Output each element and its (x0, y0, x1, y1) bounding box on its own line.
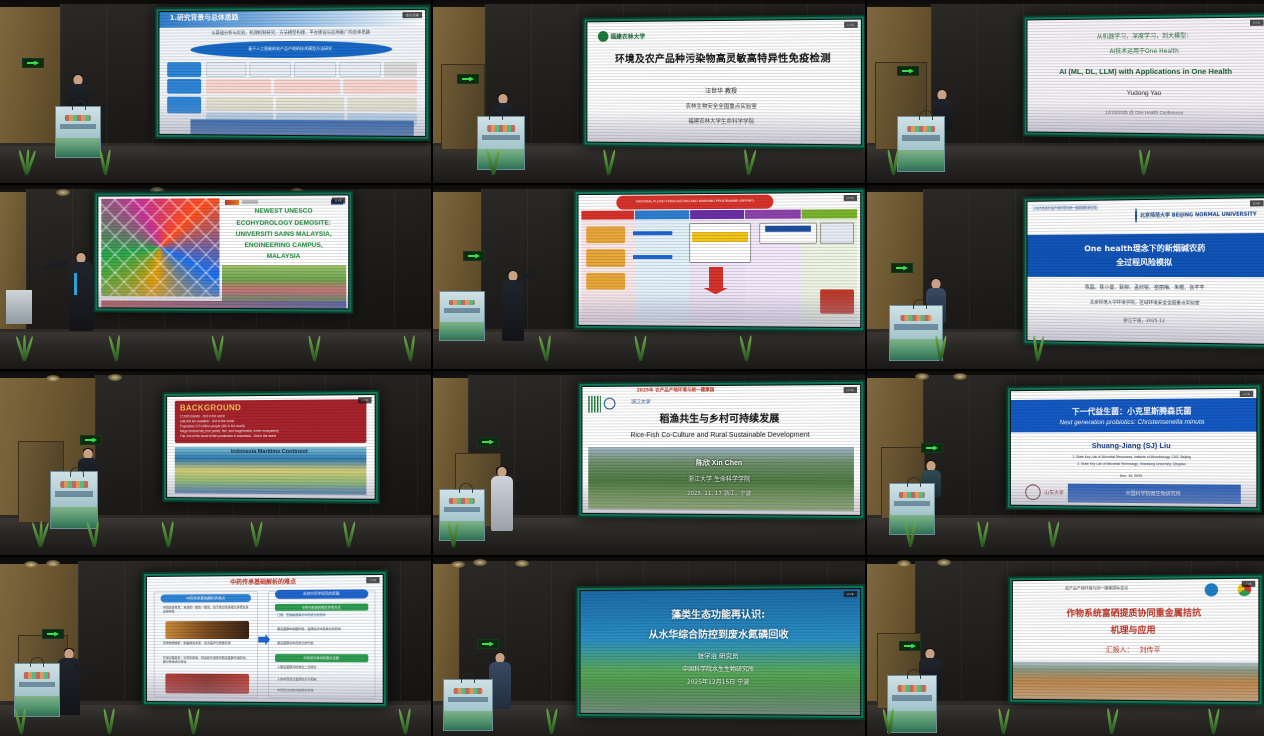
microphone-icon (70, 467, 84, 477)
exit-sign-icon (463, 251, 485, 261)
photo-cell-r3c3[interactable]: 下一代益生菌：小克里斯腾森氏菌 Next generation probioti… (867, 371, 1264, 555)
slide-title-ai-onehealth: 从机器学习，深度学习，到大模型： AI技术运用于One Health AI (M… (1028, 17, 1264, 134)
photo-cell-r3c1[interactable]: BACKGROUND 17,000 islands - 2nd in the w… (0, 371, 431, 555)
slide-affiliation-2: 福建农林大学生命科学学院 (587, 118, 860, 127)
slide-title-band: 下一代益生菌：小克里斯腾森氏菌 Next generation probioti… (1011, 398, 1257, 432)
broadcast-watermark: LIVE (843, 387, 857, 393)
slide-unesco-demosite: NEWEST UNESCO ECOHYDROLOGY DEMOSITE: UNI… (98, 195, 348, 308)
slide-right-group-1-item-2: 肠道菌群中的酶作用，选择性对中药成分的影响 (277, 628, 366, 632)
slide-header: BACKGROUND (180, 402, 361, 412)
slide-left-header: 中药传承基础解析的难点 (161, 594, 252, 603)
potted-plant (1197, 720, 1227, 736)
potted-plant (1023, 349, 1049, 369)
potted-plant (623, 333, 655, 369)
photo-cell-r3c2[interactable]: 2025年 农产品产地环境与统一健康国 浙江大学 稻渔共生与乡村可持续发展 Ri… (433, 371, 865, 555)
photo-cell-r4c2[interactable]: 藻类生态功能再认识: 从水华综合防控到废水氮磷回收 张学治 研究员 中国科学院水… (433, 557, 865, 736)
slide-left-bullet-3: 代谢过程复杂：中药的吸收、转运和代谢受胃肠道菌群代谢影响，部分有效成分转化 (163, 656, 249, 664)
exit-sign-icon (22, 58, 44, 68)
slide-presenter-name: 陈欣 Xin Chen (582, 460, 860, 469)
exit-sign-icon (457, 74, 479, 84)
potted-plant (92, 710, 124, 736)
podium (439, 291, 485, 341)
broadcast-watermark: LIVE (1241, 581, 1255, 587)
potted-plant (593, 155, 621, 183)
slide-title-line-5: MALAYSIA (222, 253, 346, 261)
slide-header: 1.研究背景与总体思路 (170, 13, 239, 22)
presenter-figure (489, 467, 515, 531)
led-screen: 下一代益生菌：小克里斯腾森氏菌 Next generation probioti… (1006, 384, 1262, 513)
potted-plant (1129, 159, 1155, 183)
led-screen: 1.研究背景与总体思路 从基础分析与实验、机理机制研究、方法模型构建、平台建设与… (155, 5, 431, 141)
potted-plant (925, 343, 953, 369)
slide-date: Dec. 15, 2025 (1011, 473, 1257, 479)
slide-subtitle: 从基础分析与实验、机理机制研究、方法模型构建、平台建设与应用推广的总体思路 (159, 30, 425, 37)
microphone-icon (459, 483, 473, 493)
slide-rice-fish: 2025年 农产品产地环境与统一健康国 浙江大学 稻渔共生与乡村可持续发展 Ri… (582, 385, 860, 515)
exit-sign-icon (891, 263, 913, 273)
slide-affiliation: 中国科学院水生生物研究所 (580, 665, 860, 673)
photo-cell-r1c3[interactable]: 从机器学习，深度学习，到大模型： AI技术运用于One Health AI (M… (867, 0, 1264, 183)
slide-presenter-label: 汇报人： (1106, 645, 1134, 655)
slide-right-group-2: 中药成分体内的表示过程 (275, 654, 368, 662)
slide-presenter-name: Shuang-Jiang (SJ) Liu (1011, 441, 1257, 451)
exit-sign-icon (921, 443, 943, 453)
slide-farmland-image (1013, 661, 1259, 701)
slide-right-group-2-item-3: 中药成分在体内的转化作用 (277, 688, 366, 693)
slide-header: 中药传承基础解析的难点 (147, 578, 383, 587)
slide-title-zh: 稻渔共生与乡村可持续发展 (582, 414, 860, 427)
slide-footer: 12/15/2025 @ One Health Conference (1028, 109, 1264, 117)
broadcast-watermark: LIVE (1239, 391, 1253, 397)
slide-title-line-1: One health理念下的新烟碱农药 (1084, 242, 1205, 254)
photo-cell-r1c1[interactable]: 1.研究背景与总体思路 从基础分析与实验、机理机制研究、方法模型构建、平台建设与… (0, 0, 431, 183)
slide-presenter-name: 刘传平 (1139, 645, 1160, 655)
slide-chinese-line-1: 从机器学习，深度学习，到大模型： (1028, 32, 1264, 42)
exit-sign-icon (477, 437, 499, 447)
slide-right-header-label: 系统中药学研究的思路 (303, 591, 339, 596)
potted-plant (98, 327, 132, 369)
presenter-figure (499, 271, 527, 341)
slide-banner: 农产品产地环境与同一健康国际会议 (1036, 585, 1157, 592)
slide-right-group-1-item-1: 口服、皮肤黏膜等对中药成分的影响 (277, 613, 366, 617)
slide-map-caption: Indonesia Maritime Continent (167, 449, 375, 456)
slide-right-group-1: 中药与机体的相互作用方式 (275, 603, 368, 611)
exit-sign-icon (80, 435, 102, 445)
broadcast-watermark: LIVE (844, 22, 858, 28)
equipment-stand (6, 290, 32, 324)
potted-plant (879, 153, 905, 183)
slide-affiliation: 北京师范大学环境学院，区域环境安全全国重点实验室 (1028, 300, 1264, 307)
slide-presenter-name: 汪世华 教授 (587, 88, 860, 96)
slide-neonicotinoid-risk: 2025年农产品产地环境与统一健康国际研讨会 北京师范大学 BEIJING NO… (1028, 198, 1264, 344)
slide-org-logo: 浙江大学 (631, 398, 651, 405)
led-screen: 中药传承基础解析的难点 中药传承基础解析的难点 系统中药学研究的思路 中药的多样… (142, 570, 388, 708)
podium (443, 679, 493, 731)
slide-right-group-2-item-2: 人体中药成分发挥的分子机制 (277, 677, 366, 681)
photo-cell-r2c3[interactable]: 2025年农产品产地环境与统一健康国际研讨会 北京师范大学 BEIJING NO… (867, 185, 1264, 369)
potted-plant (729, 335, 761, 369)
slide-title-line-1: NEWEST UNESCO (222, 208, 346, 217)
microphone-icon (919, 110, 933, 120)
slide-corner-tag: 2025年农产品产地环境与统一健康国际研讨会 (1032, 204, 1099, 212)
broadcast-watermark: LIVE (843, 195, 857, 201)
potted-plant (1095, 718, 1125, 736)
slide-probiotics: 下一代益生菌：小克里斯腾森氏菌 Next generation probioti… (1011, 389, 1257, 508)
led-screen: 2025年农产品产地环境与统一健康国际研讨会 北京师范大学 BEIJING NO… (1023, 193, 1264, 349)
slide-background-indonesia: BACKGROUND 17,000 islands - 2nd in the w… (167, 395, 375, 499)
potted-plant (296, 327, 330, 369)
slide-left-bullet-1: 中药的多样性：来源的一致性一致性，基于成分的多组分多靶点多途径特性 (163, 606, 249, 614)
exit-sign-icon (897, 66, 919, 76)
slide-affiliation-1: 1. State Key Lab of Microbial Resources,… (1011, 455, 1257, 460)
led-screen: BACKGROUND 17,000 islands - 2nd in the w… (162, 390, 380, 504)
led-screen: 从机器学习，深度学习，到大模型： AI技术运用于One Health AI (M… (1023, 12, 1264, 139)
slide-tcm-analysis: 中药传承基础解析的难点 中药传承基础解析的难点 系统中药学研究的思路 中药的多样… (147, 575, 383, 703)
slide-title-line-1: 作物系统富硒提质协同重金属拮抗 (1013, 608, 1259, 620)
slide-affiliation: 浙江大学 生命科学学院 (582, 475, 860, 483)
slide-banner: 基于人工智能的农产品产地的技术模型方法研究 (190, 40, 392, 58)
potted-plant (987, 716, 1017, 736)
slide-selenium-crop: 农产品产地环境与同一健康国际会议 作物系统富硒提质协同重金属拮抗 机理与应用 汇… (1013, 579, 1259, 702)
slide-right-group-2-item-1: 人肠道菌群对机体生二次转化 (277, 666, 366, 670)
slide-header-block: BACKGROUND 17,000 islands - 2nd in the w… (175, 399, 366, 443)
slide-title-line-4: ENGINEERING CAMPUS, (222, 242, 346, 250)
slide-title-immunoassay: 福建农林大学 环境及农产品种污染物高灵敏高特异性免疫检测 汪世华 教授 农林生物… (587, 20, 860, 145)
slide-right-group-1-label: 中药与机体的相互作用方式 (302, 605, 341, 610)
slide-right-header: 系统中药学研究的思路 (275, 589, 368, 598)
slide-authors: 陈磊、陈小曼、耿柳、孟欣锐、窑丽梅、朱樱、张芊芊 (1028, 285, 1264, 292)
potted-plant (10, 137, 40, 183)
exit-sign-icon (477, 639, 499, 649)
potted-plant (238, 521, 272, 555)
potted-plant (392, 329, 426, 369)
slide-framework: 1.研究背景与总体思路 从基础分析与实验、机理机制研究、方法模型构建、平台建设与… (159, 10, 425, 136)
led-screen: 2025年 农产品产地环境与统一健康国 浙江大学 稻渔共生与乡村可持续发展 Ri… (578, 380, 865, 520)
slide-header-banner: NATIONAL FLOOD FORECASTING AND WARNING P… (617, 195, 774, 209)
slide-org-logo: 福建农林大学 (610, 32, 645, 41)
potted-plant (1037, 535, 1065, 555)
potted-plant (388, 708, 420, 736)
slide-banner-label: 基于人工智能的农产品产地的技术模型方法研究 (236, 47, 344, 52)
slide-title-line-2: 机理与应用 (1013, 625, 1259, 637)
microphone-icon (489, 110, 503, 120)
photo-cell-r2c2[interactable]: NATIONAL FLOOD FORECASTING AND WARNING P… (433, 185, 865, 369)
slide-bullet-5: The 2nd of the world of fish production … (180, 434, 361, 438)
photo-cell-r2c1[interactable]: NEWEST UNESCO ECOHYDROLOGY DEMOSITE: UNI… (0, 185, 431, 369)
slide-algae-ecology: 藻类生态功能再认识: 从水华综合防控到废水氮磷回收 张学治 研究员 中国科学院水… (580, 589, 860, 715)
potted-plant (22, 511, 56, 555)
led-screen: 农产品产地环境与同一健康国际会议 作物系统富硒提质协同重金属拮抗 机理与应用 汇… (1008, 574, 1264, 707)
slide-title-en: AI (ML, DL, LLM) with Applications in On… (1028, 67, 1264, 77)
slide-left-header-label: 中药传承基础解析的难点 (186, 596, 225, 601)
microphone-icon (907, 669, 921, 679)
slide-title-line-3: UNIVERSITI SAINS MALAYSIA, (222, 230, 346, 238)
potted-plant (4, 706, 36, 736)
slide-header-label: NATIONAL FLOOD FORECASTING AND WARNING P… (630, 200, 760, 205)
potted-plant (150, 519, 184, 555)
potted-plant (535, 718, 565, 736)
potted-plant (76, 513, 110, 555)
slide-title-zh: 下一代益生菌：小克里斯腾森氏菌 (1072, 405, 1192, 417)
slide-title-line-2: ECOHYDROLOGY DEMOSITE: (222, 219, 346, 227)
slide-right-group-1-item-3: 肠道菌群对中药成分的代谢 (277, 642, 366, 646)
microphone-icon (913, 299, 927, 309)
potted-plant (200, 329, 234, 369)
slide-title-line-1: 藻类生态功能再认识: (580, 609, 860, 623)
potted-plant (437, 527, 467, 555)
slide-footer: 浙江宁波，2025.12 (1028, 318, 1264, 326)
potted-plant (477, 149, 507, 183)
slide-title-band: One health理念下的新烟碱农药 全过程风险模拟 (1028, 233, 1264, 277)
broadcast-watermark: LIVE (332, 197, 346, 203)
broadcast-watermark: LIVE (1250, 200, 1264, 206)
slide-banner: 2025年 农产品产地环境与统一健康国 (637, 386, 855, 394)
slide-footer: 2025年12月15日 宁波 (580, 679, 860, 688)
slide-bullet-2: 108,000 km coastline - 2nd in the world (180, 419, 361, 424)
slide-presenter-name: Yudong Yao (1028, 89, 1264, 98)
potted-plant (967, 533, 995, 555)
microphone-icon (72, 100, 86, 110)
slide-presenter-name: 张学治 研究员 (580, 652, 860, 660)
slide-chinese-line-2: AI技术运用于One Health (1028, 47, 1264, 56)
slide-flood-flowchart: NATIONAL FLOOD FORECASTING AND WARNING P… (579, 193, 861, 327)
slide-left-bullet-2: 药效物质解析：制备路线多变、批次差异与质量标准 (163, 641, 249, 645)
slide-bullet-4: Mega biodiversity (rich plants, fish, an… (180, 429, 361, 434)
slide-title-line-2: 全过程风险模拟 (1116, 257, 1172, 268)
potted-plant (873, 708, 903, 736)
broadcast-watermark: LIVE (358, 397, 372, 403)
slide-affiliation-2: 2. State Key Lab of Microbial Technology… (1011, 462, 1257, 467)
potted-plant (90, 143, 118, 183)
microphone-icon (907, 477, 921, 487)
exit-sign-icon (42, 629, 64, 639)
slide-bullet-3: Population 270 million people (4th in th… (180, 424, 361, 429)
slide-title-line-2: 从水华综合防控到废水氮磷回收 (580, 629, 860, 642)
slide-title-en: Rice-Fish Co-Culture and Rural Sustainab… (582, 432, 860, 441)
potted-plant (529, 329, 561, 369)
broadcast-watermark: LIVE (1250, 20, 1264, 26)
photo-cell-r4c1[interactable]: 中药传承基础解析的难点 中药传承基础解析的难点 系统中药学研究的思路 中药的多样… (0, 557, 431, 736)
microphone-icon (461, 673, 475, 683)
potted-plant (733, 157, 761, 183)
photo-cell-r4c3[interactable]: 农产品产地环境与同一健康国际会议 作物系统富硒提质协同重金属拮抗 机理与应用 汇… (867, 557, 1264, 736)
led-screen: NEWEST UNESCO ECOHYDROLOGY DEMOSITE: UNI… (93, 190, 353, 313)
slide-right-group-2-label: 中药成分体内的表示过程 (303, 655, 339, 660)
led-screen: 藻类生态功能再认识: 从水华综合防控到废水氮磷回收 张学治 研究员 中国科学院水… (576, 584, 865, 720)
broadcast-watermark: 会议直播 (403, 12, 422, 18)
broadcast-watermark: LIVE (366, 577, 380, 583)
microphone-icon (30, 657, 44, 667)
potted-plant (6, 325, 40, 369)
photo-grid: 1.研究背景与总体思路 从基础分析与实验、机理机制研究、方法模型构建、平台建设与… (0, 0, 1264, 736)
presenter-figure (66, 253, 96, 331)
led-screen: 福建农林大学 环境及农产品种污染物高灵敏高特异性免疫检测 汪世华 教授 农林生物… (583, 14, 865, 149)
slide-affiliation-1: 农林生物安全全国重点实验室 (587, 103, 860, 111)
slide-footer-logos: 山东大学 中国科学院微生物研究所 (1025, 483, 1241, 503)
led-screen: NATIONAL FLOOD FORECASTING AND WARNING P… (574, 188, 865, 333)
photo-cell-r1c2[interactable]: 福建农林大学 环境及农产品种污染物高灵敏高特异性免疫检测 汪世华 教授 农林生物… (433, 0, 865, 183)
slide-campus-image (222, 265, 346, 301)
broadcast-watermark: LIVE (843, 591, 857, 597)
slide-org-logo: 北京师范大学 BEIJING NORMAL UNIVERSITY (1140, 211, 1257, 219)
potted-plant (330, 523, 364, 555)
slide-title: 环境及农产品种污染物高灵敏高特异性免疫检测 (587, 53, 860, 66)
potted-plant (176, 712, 208, 736)
potted-plant (895, 529, 923, 555)
slide-title-en: Next generation probiotics: Christensene… (1059, 418, 1204, 426)
